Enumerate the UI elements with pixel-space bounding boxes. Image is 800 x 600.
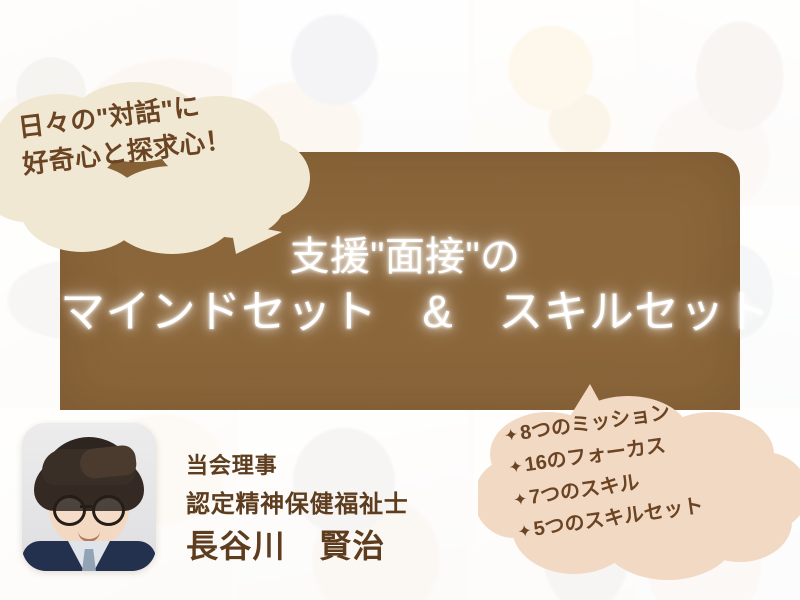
avatar-glasses-bridge — [80, 505, 92, 508]
star-icon: ✦ — [507, 453, 525, 482]
presenter-credential: 認定精神保健福祉士 — [186, 484, 506, 519]
avatar — [22, 423, 156, 571]
avatar-fringe-side — [79, 444, 138, 480]
star-icon: ✦ — [502, 421, 520, 450]
star-icon: ✦ — [516, 517, 534, 546]
slide-canvas: 支援"面接"の マインドセット & スキルセット 日々の"対話"に 好奇心と探求… — [0, 0, 800, 600]
star-icon: ✦ — [511, 485, 529, 514]
avatar-glasses-left-lens — [53, 495, 86, 526]
avatar-glasses-right-lens — [92, 495, 125, 526]
top-speech-bubble: 日々の"対話"に 好奇心と探求心！ — [0, 82, 322, 264]
presenter-name: 長谷川 賢治 — [186, 521, 506, 567]
presenter-role: 当会理事 — [186, 448, 506, 480]
bottom-speech-bubble: ✦8つのミッション ✦16のフォーカス ✦7つのスキル ✦5つのスキルセット — [478, 382, 800, 600]
presenter-info: 当会理事 認定精神保健福祉士 長谷川 賢治 — [186, 448, 506, 567]
main-title-line2: マインドセット & スキルセット — [60, 283, 750, 341]
